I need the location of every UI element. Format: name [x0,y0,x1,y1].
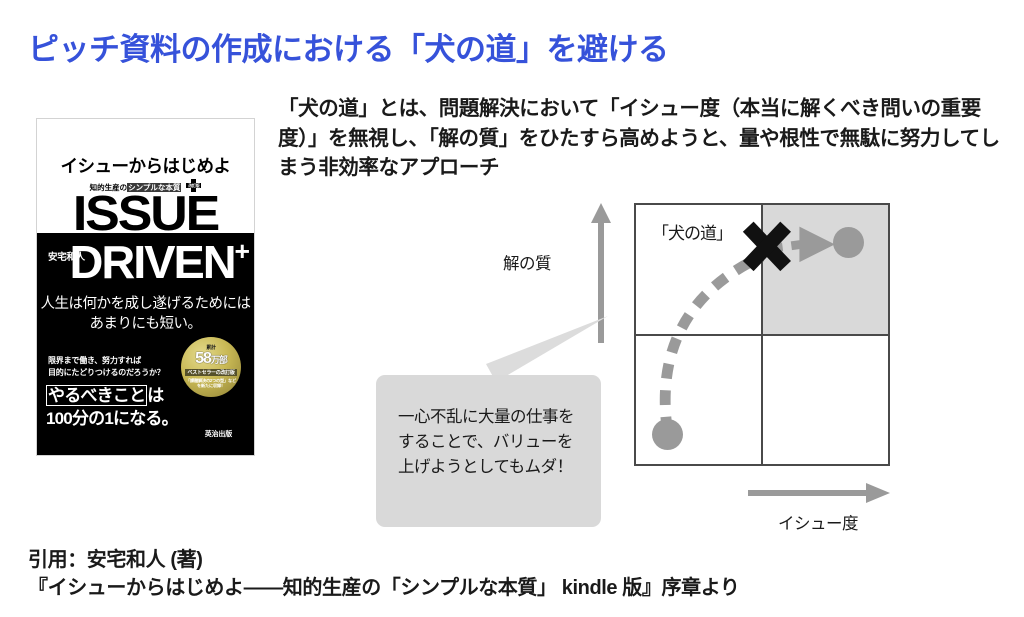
callout-box: 一心不乱に大量の仕事をすることで、バリューを上げようとしてもムダ！ [376,375,601,527]
badge-line-note: 「課題解決の2つの型」などを新たに収録！ [185,378,237,389]
x-axis-label: イシュー度 [778,510,858,534]
callout-text: 一心不乱に大量の仕事をすることで、バリューを上げようとしてもムダ！ [398,408,574,476]
book-tagline: 人生は何かを成し遂げるためには あまりにも短い。 [37,295,254,334]
book-sales-badge: 累計 58万部 ベストセラーの改訂版 「課題解決の2つの型」などを新たに収録！ [181,337,241,397]
book-question-line2: 目的にたどりつけるのだろうか？ [48,367,165,379]
badge-line-cumulative: 累計 [181,344,241,351]
citation-line-1: 引用：安宅和人 (著) [28,546,740,574]
page-title: ピッチ資料の作成における「犬の道」を避ける [28,24,669,69]
dog-path-overlay [636,205,888,464]
book-cover-bottom: 安宅和人 DRIVEN+ 人生は何かを成し遂げるためには あまりにも短い。 限界… [37,233,254,455]
citation-line-2: 『イシューからはじめよ——知的生産の「シンプルな本質」 kindle 版』序章よ… [28,574,740,602]
y-axis-arrow-icon [590,203,612,343]
badge-number: 58万部 [181,351,241,367]
book-title-japanese: イシューからはじめよ [37,153,254,178]
badge-number-value: 58 [195,350,211,367]
book-claim-line2: 100分の1になる。 [46,408,178,431]
book-word-driven-text: DRIVEN [70,236,235,288]
book-publisher: 英治出版 [205,429,232,439]
x-axis-arrow-icon [748,482,890,504]
book-tagline-line1: 人生は何かを成し遂げるためには [37,295,254,315]
description-paragraph: 「犬の道」とは、問題解決において「イシュー度（本当に解くべき問いの重要度）」を無… [278,94,1002,183]
badge-number-unit: 万部 [211,355,227,365]
matrix-grid: 「犬の道」 [634,203,890,466]
book-cover-top: イシューからはじめよ 知的生産のシンプルな本質改訂版 ISSUE [37,119,254,233]
dashed-curve-path [665,256,762,431]
book-question-line1: 限界まで働き、努力すれば [48,355,165,367]
blocked-arrow-head [799,227,834,262]
book-word-issue: ISSUE [36,190,255,239]
book-claim: やるべきことは 100分の1になる。 [46,385,178,431]
book-tagline-line2: あまりにも短い。 [37,315,254,335]
book-claim-after: は [147,386,163,405]
book-word-driven: DRIVEN+ [36,238,255,285]
book-word-driven-plus: + [235,236,248,266]
y-axis-label: 解の質 [503,250,551,274]
book-question: 限界まで働き、努力すれば 目的にたどりつけるのだろうか？ [48,355,165,378]
book-claim-line1: やるべきことは [46,385,178,408]
book-cover-image: イシューからはじめよ 知的生産のシンプルな本質改訂版 ISSUE 安宅和人 DR… [36,118,255,456]
citation-block: 引用：安宅和人 (著) 『イシューからはじめよ——知的生産の「シンプルな本質」 … [28,546,740,603]
badge-line-bestseller: ベストセラーの改訂版 [185,369,237,376]
book-claim-boxed: やるべきこと [46,385,147,406]
plus-badge-label: 改訂版 [187,184,200,188]
